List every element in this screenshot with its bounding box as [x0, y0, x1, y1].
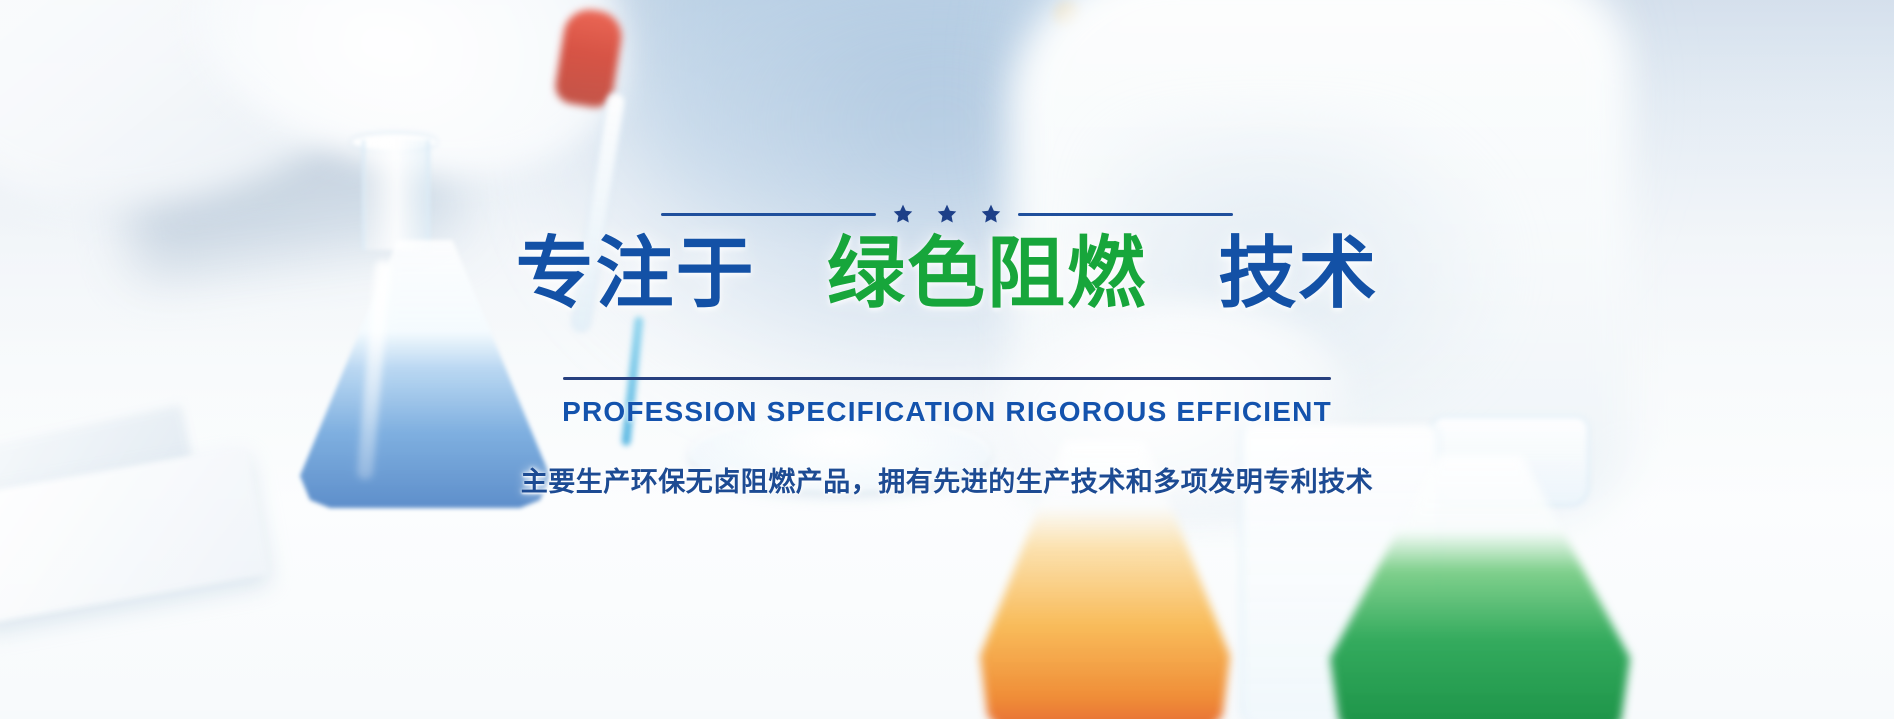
- headline: 专注于 绿色阻燃 技术: [516, 231, 1379, 315]
- star-icon: [892, 203, 914, 225]
- decorative-divider: [661, 203, 1233, 225]
- hero-banner: 专注于 绿色阻燃 技术 PROFESSION SPECIFICATION RIG…: [0, 0, 1894, 719]
- star-icon: [936, 203, 958, 225]
- english-subtitle: PROFESSION SPECIFICATION RIGOROUS EFFICI…: [562, 396, 1332, 428]
- divider-line-right: [1018, 213, 1233, 216]
- banner-content: 专注于 绿色阻燃 技术 PROFESSION SPECIFICATION RIG…: [0, 0, 1894, 719]
- divider-line-left: [661, 213, 876, 216]
- headline-part-3: 技术: [1218, 229, 1378, 317]
- headline-part-1: 专注于: [516, 229, 756, 317]
- headline-underline: [563, 377, 1331, 380]
- star-icon: [980, 203, 1002, 225]
- tagline: 主要生产环保无卤阻燃产品，拥有先进的生产技术和多项发明专利技术: [521, 460, 1374, 499]
- headline-part-2: 绿色阻燃: [827, 229, 1147, 317]
- star-group: [892, 203, 1002, 225]
